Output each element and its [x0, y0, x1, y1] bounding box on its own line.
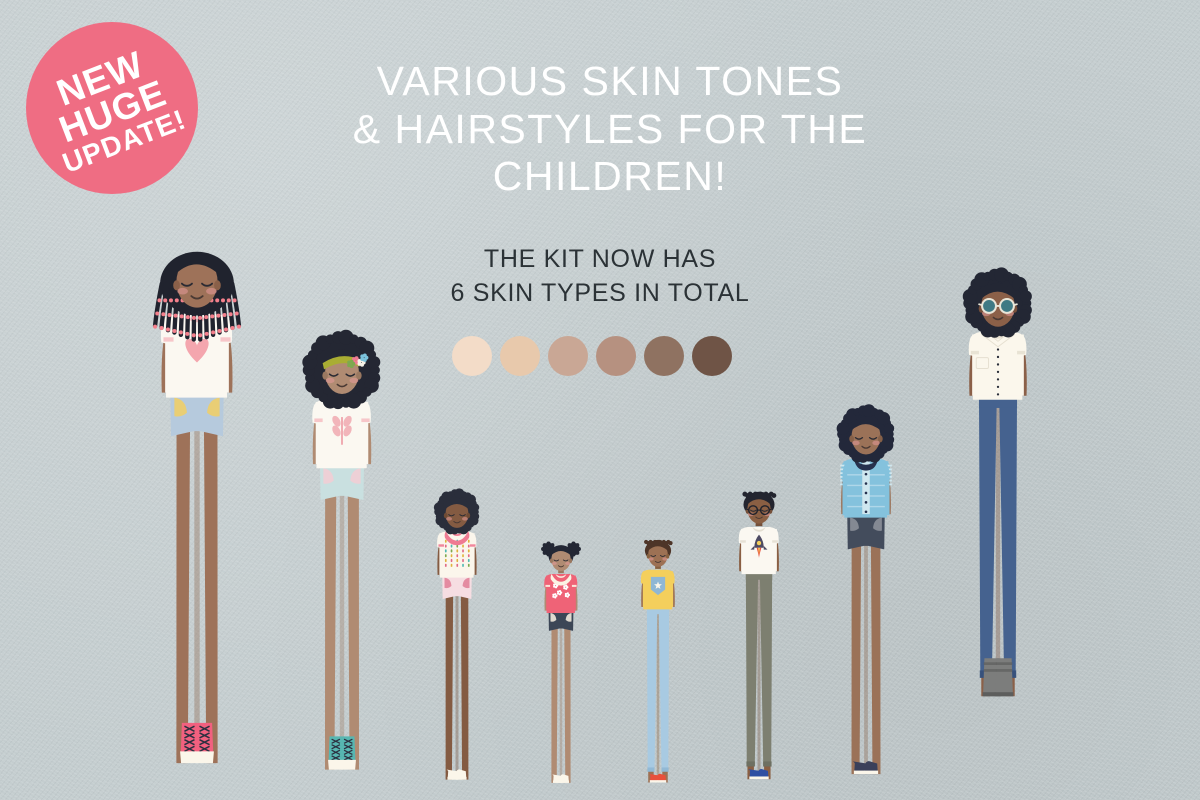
skin-tone-6[interactable]: [692, 336, 732, 376]
subtitle-line-2: 6 SKIN TYPES IN TOTAL: [430, 277, 770, 311]
character-5[interactable]: [602, 530, 714, 800]
character-8[interactable]: [930, 190, 1066, 800]
skin-tone-3[interactable]: [548, 336, 588, 376]
badge-text: NEW HUGE UPDATE!: [34, 39, 190, 178]
character-3[interactable]: [392, 485, 522, 800]
page-title: VARIOUS SKIN TONES & HAIRSTYLES FOR THE …: [330, 58, 890, 201]
skin-tone-2[interactable]: [500, 336, 540, 376]
headline-line-2: & HAIRSTYLES FOR THE: [330, 106, 890, 154]
poster-canvas: NEW HUGE UPDATE! VARIOUS SKIN TONES & HA…: [0, 0, 1200, 800]
skin-tone-5[interactable]: [644, 336, 684, 376]
headline-line-1: VARIOUS SKIN TONES: [330, 58, 890, 106]
skin-tone-4[interactable]: [596, 336, 636, 376]
character-4[interactable]: [506, 535, 616, 800]
character-6[interactable]: [700, 480, 818, 800]
subtitle-line-1: THE KIT NOW HAS: [430, 243, 770, 277]
new-huge-update-badge[interactable]: NEW HUGE UPDATE!: [26, 22, 198, 194]
subtitle: THE KIT NOW HAS 6 SKIN TYPES IN TOTAL: [430, 243, 770, 311]
skin-tone-1[interactable]: [452, 336, 492, 376]
character-7[interactable]: [806, 400, 926, 800]
skin-tone-swatch-row: [452, 336, 732, 376]
headline-line-3: CHILDREN!: [330, 153, 890, 201]
character-1[interactable]: [112, 230, 282, 800]
